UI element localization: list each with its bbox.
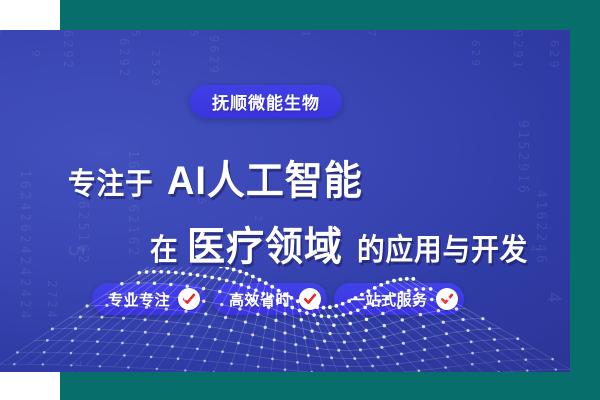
headline-line-2: 在 医疗领域 的应用与开发 <box>0 214 570 272</box>
digit-column: 9629 <box>208 35 220 76</box>
white-corner-bottom-left <box>0 372 60 400</box>
company-badge: 抚顺微能生物 <box>190 85 342 118</box>
headline-line1-prefix: 专注于 <box>68 159 154 203</box>
digit-column: 2529 <box>150 50 161 89</box>
headline-line2-prefix: 在 <box>150 225 179 269</box>
digit-column: 5 <box>188 30 199 40</box>
wireframe-mesh-decor <box>0 267 570 372</box>
hero-banner: 1624262424242492724629272162516262921625… <box>0 30 570 372</box>
digit-column: 9 <box>30 50 41 60</box>
mesh-lines <box>0 267 570 372</box>
banner-canvas: 1624262424242492724629272162516262921625… <box>0 0 600 400</box>
digit-column: 1 <box>300 30 311 40</box>
digit-column: 6292 <box>62 30 74 71</box>
digit-column: 5 <box>130 30 141 40</box>
digit-column: 629 <box>470 40 481 69</box>
headline-line2-suffix: 的应用与开发 <box>357 225 528 269</box>
headline-line2-emphasis: 医疗领域 <box>187 214 343 272</box>
company-badge-label: 抚顺微能生物 <box>212 89 320 114</box>
white-corner-top-left <box>0 0 60 30</box>
digit-column: 629 <box>548 40 560 71</box>
headline-line1-emphasis: AI人工智能 <box>167 148 363 206</box>
headline-block: 专注于 AI人工智能 在 医疗领域 的应用与开发 <box>0 148 570 272</box>
digit-column: 7 <box>366 30 377 40</box>
headline-line-1: 专注于 AI人工智能 <box>0 148 570 206</box>
digit-column: 6292 <box>118 38 130 79</box>
digit-column: 9291 <box>512 30 524 71</box>
